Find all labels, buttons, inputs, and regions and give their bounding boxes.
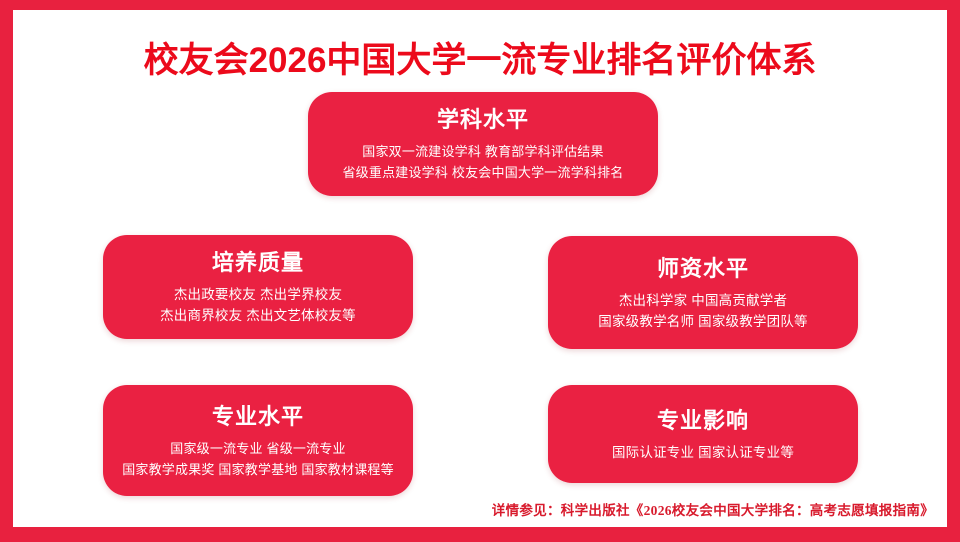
card-training-lines: 杰出政要校友 杰出学界校友 杰出商界校友 杰出文艺体校友等 [160, 284, 356, 326]
card-major-impact-line-1: 国际认证专业 国家认证专业等 [612, 442, 794, 463]
card-faculty: 师资水平 杰出科学家 中国高贡献学者 国家级教学名师 国家级教学团队等 [548, 236, 858, 349]
card-training: 培养质量 杰出政要校友 杰出学界校友 杰出商界校友 杰出文艺体校友等 [103, 235, 413, 339]
card-major-impact-lines: 国际认证专业 国家认证专业等 [612, 442, 794, 463]
card-discipline-line-2: 省级重点建设学科 校友会中国大学一流学科排名 [342, 162, 623, 183]
card-discipline: 学科水平 国家双一流建设学科 教育部学科评估结果 省级重点建设学科 校友会中国大… [308, 92, 658, 196]
card-major-level: 专业水平 国家级一流专业 省级一流专业 国家教学成果奖 国家教学基地 国家教材课… [103, 385, 413, 496]
card-training-line-2: 杰出商界校友 杰出文艺体校友等 [160, 305, 356, 326]
card-discipline-title: 学科水平 [437, 105, 529, 135]
poster-canvas: 校友会2026中国大学一流专业排名评价体系 学科水平 国家双一流建设学科 教育部… [13, 10, 947, 527]
card-faculty-line-1: 杰出科学家 中国高贡献学者 [598, 290, 807, 311]
card-major-level-line-1: 国家级一流专业 省级一流专业 [122, 438, 394, 459]
card-faculty-title: 师资水平 [657, 254, 749, 284]
source-footnote: 详情参见：科学出版社《2026校友会中国大学排名：高考志愿填报指南》 [492, 499, 934, 519]
card-training-line-1: 杰出政要校友 杰出学界校友 [160, 284, 356, 305]
card-major-level-lines: 国家级一流专业 省级一流专业 国家教学成果奖 国家教学基地 国家教材课程等 [122, 438, 394, 480]
card-faculty-line-2: 国家级教学名师 国家级教学团队等 [598, 311, 807, 332]
poster-frame: 校友会2026中国大学一流专业排名评价体系 学科水平 国家双一流建设学科 教育部… [0, 0, 960, 542]
card-major-level-line-2: 国家教学成果奖 国家教学基地 国家教材课程等 [122, 459, 394, 480]
card-major-impact-title: 专业影响 [657, 406, 749, 436]
card-training-title: 培养质量 [212, 248, 304, 278]
card-faculty-lines: 杰出科学家 中国高贡献学者 国家级教学名师 国家级教学团队等 [598, 290, 807, 332]
page-title: 校友会2026中国大学一流专业排名评价体系 [13, 38, 947, 84]
card-discipline-line-1: 国家双一流建设学科 教育部学科评估结果 [342, 141, 623, 162]
card-discipline-lines: 国家双一流建设学科 教育部学科评估结果 省级重点建设学科 校友会中国大学一流学科… [342, 141, 623, 183]
card-major-impact: 专业影响 国际认证专业 国家认证专业等 [548, 385, 858, 483]
card-major-level-title: 专业水平 [212, 402, 304, 432]
